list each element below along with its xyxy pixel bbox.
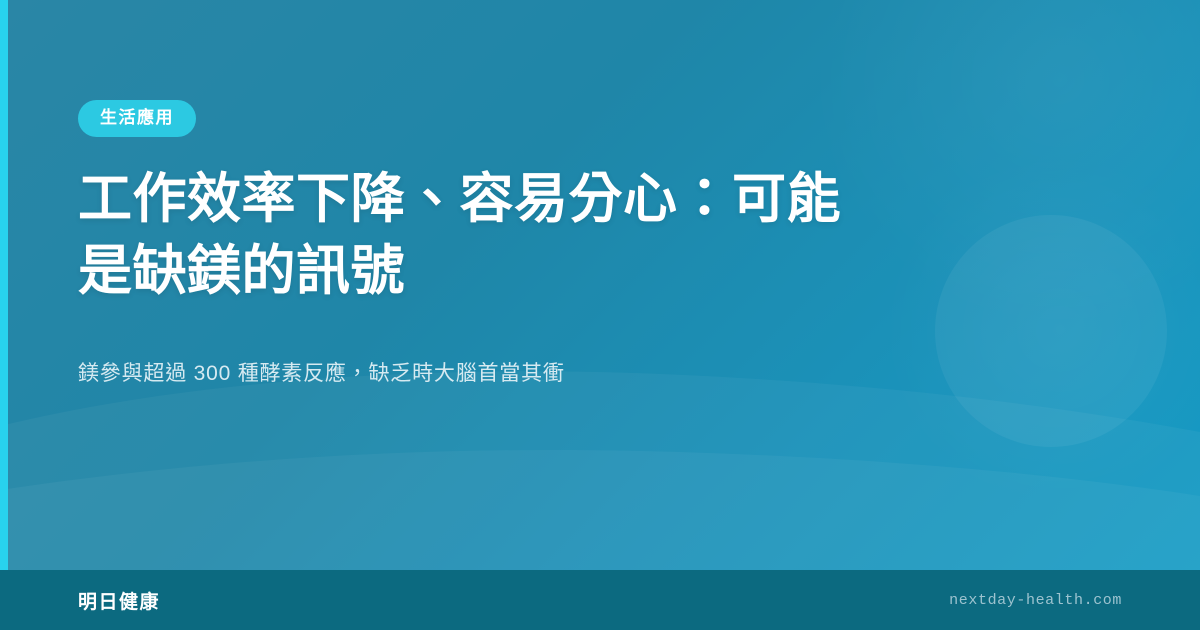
brand-name: 明日健康	[78, 587, 160, 614]
category-badge[interactable]: 生活應用	[78, 100, 196, 137]
social-share-card: 生活應用 工作效率下降、容易分心：可能 是缺鎂的訊號 鎂參與超過 300 種酵素…	[0, 0, 1200, 630]
headline-line-2: 是缺鎂的訊號	[78, 241, 405, 301]
card-content: 生活應用 工作效率下降、容易分心：可能 是缺鎂的訊號 鎂參與超過 300 種酵素…	[78, 0, 978, 389]
subtitle-text: 鎂參與超過 300 種酵素反應，缺乏時大腦首當其衝	[78, 358, 978, 390]
site-url: nextday-health.com	[949, 592, 1122, 609]
footer-bar: 明日健康 nextday-health.com	[0, 570, 1200, 630]
page-title: 工作效率下降、容易分心：可能 是缺鎂的訊號	[78, 164, 908, 308]
left-accent-bar	[0, 0, 8, 570]
headline-line-1: 工作效率下降、容易分心：可能	[78, 169, 841, 229]
